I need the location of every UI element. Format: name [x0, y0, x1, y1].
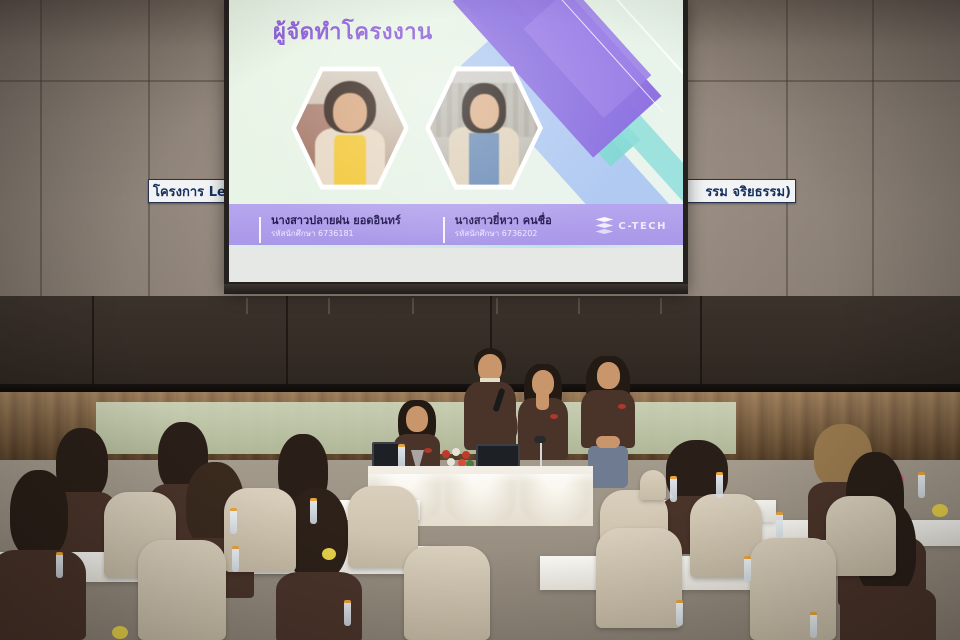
- presenter-name: นางสาวปลายฝน ยอดอินทร์: [271, 214, 401, 228]
- audience-chair[interactable]: [596, 528, 682, 628]
- person-jeans: [588, 446, 628, 488]
- fruit-item: [932, 504, 948, 517]
- presentation-photo: โครงการ Lea รรม จริยธรรม): [0, 0, 960, 640]
- water-bottle: [56, 552, 63, 578]
- audience-member: [0, 470, 86, 640]
- screen-hook: [412, 298, 414, 314]
- water-bottle: [810, 612, 817, 638]
- uniform-logo: [618, 404, 626, 409]
- screen-hook: [578, 298, 580, 314]
- uniform-logo: [424, 448, 432, 453]
- presenter-credit-1: นางสาวปลายฝน ยอดอินทร์ รหัสนักศึกษา 6736…: [259, 214, 401, 239]
- fruit-item: [112, 626, 128, 639]
- wall-seam-vertical: [872, 0, 874, 300]
- brand-logo-text: C-TECH: [618, 221, 667, 232]
- stacked-layers-icon: [595, 217, 613, 235]
- audience-chair[interactable]: [826, 496, 896, 576]
- slide-footer: นางสาวปลายฝน ยอดอินทร์ รหัสนักศึกษา 6736…: [229, 204, 683, 248]
- panel-seam: [700, 296, 702, 394]
- presenter-photo-2: [425, 64, 543, 192]
- audience-torso: [840, 586, 936, 640]
- portrait-shirt: [469, 133, 499, 187]
- water-bottle: [776, 512, 783, 538]
- audience-chair[interactable]: [138, 540, 226, 640]
- screen-hook: [328, 298, 330, 314]
- presenter-student-id: รหัสนักศึกษา 6736181: [271, 228, 401, 239]
- presenter-name: นางสาวยี่หวา คนชื่อ: [455, 214, 552, 228]
- water-bottle: [230, 508, 237, 534]
- presenter-photo-1: [291, 64, 409, 192]
- panel-seam: [92, 296, 94, 394]
- screen-hook: [660, 298, 662, 314]
- screen-hook: [246, 298, 248, 314]
- wai-hands: [536, 386, 549, 410]
- slide-content: ผู้จัดทำโครงงาน: [229, 0, 683, 248]
- uniform-logo: [550, 414, 558, 419]
- water-bottle: [676, 600, 683, 626]
- audience-hair: [10, 470, 68, 558]
- slide-underline: [229, 245, 683, 248]
- screen-bottom-bar: [224, 284, 688, 294]
- water-bottle: [670, 476, 677, 502]
- slide-title: ผู้จัดทำโครงงาน: [273, 14, 433, 49]
- table-microphone: [534, 436, 546, 443]
- panel-seam: [286, 296, 288, 394]
- audience-chair[interactable]: [404, 546, 490, 640]
- water-bottle: [232, 546, 239, 572]
- audience-chair[interactable]: [750, 538, 836, 640]
- wall-seam-vertical: [40, 0, 42, 300]
- wall-banner-right: รรม จริยธรรม): [672, 179, 796, 203]
- water-bottle: [716, 472, 723, 498]
- fruit-item: [322, 548, 336, 560]
- projection-screen: ผู้จัดทำโครงงาน: [224, 0, 688, 288]
- screen-surface: ผู้จัดทำโครงงาน: [229, 0, 683, 282]
- brand-logo: C-TECH: [595, 217, 667, 235]
- presenter-credit-2: นางสาวยี่หวา คนชื่อ รหัสนักศึกษา 6736202: [443, 214, 552, 239]
- audience-chair[interactable]: [640, 470, 666, 500]
- water-bottle: [310, 498, 317, 524]
- audience-torso: [0, 550, 86, 640]
- water-bottle: [744, 556, 751, 582]
- person-head: [406, 406, 428, 432]
- portrait-face: [333, 93, 368, 132]
- portrait-shirt: [334, 135, 366, 187]
- wall-seam-vertical: [148, 0, 150, 300]
- portrait-face: [470, 94, 499, 129]
- presenter-student-id: รหัสนักศึกษา 6736202: [455, 228, 552, 239]
- water-bottle: [918, 472, 925, 498]
- screen-hook: [496, 298, 498, 314]
- water-bottle: [344, 600, 351, 626]
- person-head: [597, 362, 620, 389]
- clasped-hands: [596, 436, 620, 448]
- standing-presenter-2: [514, 364, 572, 474]
- wall-seam-vertical: [786, 0, 788, 300]
